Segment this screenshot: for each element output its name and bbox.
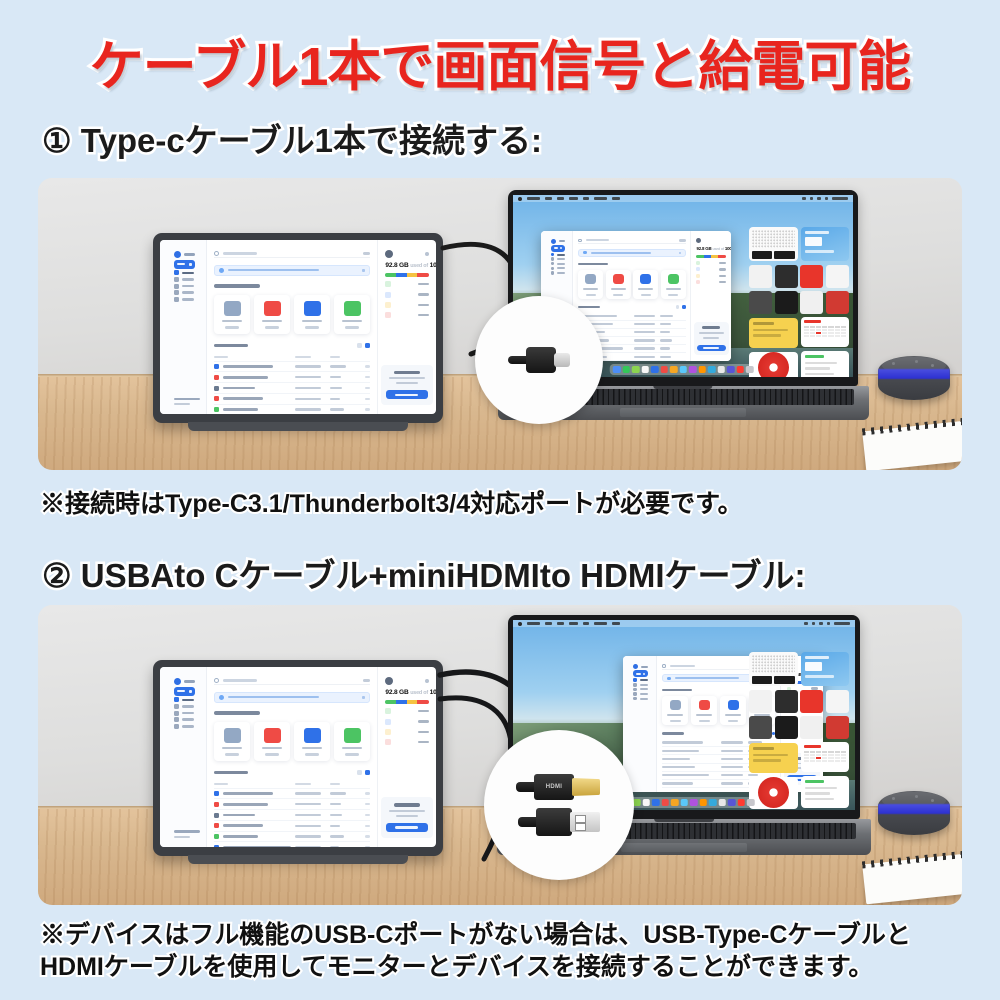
monitor-screen-2: 92.8 GB used of 100 GB [160, 667, 436, 847]
app-icon-settings[interactable] [749, 716, 772, 739]
info-icon [219, 268, 224, 273]
notes-widget[interactable] [749, 743, 798, 773]
battery-icon [825, 197, 828, 200]
macos-widget-stack-2 [749, 652, 849, 809]
more-icon[interactable] [679, 239, 686, 241]
macos-menubar [513, 620, 855, 627]
app-icon-settings[interactable] [749, 291, 772, 314]
recents-header [214, 343, 370, 348]
brand-logo-icon [633, 664, 638, 669]
share-icon [174, 284, 179, 289]
quick-access-card[interactable] [334, 295, 370, 334]
clock-icon [174, 717, 179, 722]
storage-usage-text: 92.8 GB used of 100 GB [696, 246, 726, 251]
dock-icon-podcasts[interactable] [690, 799, 698, 807]
pdf-tile-icon [264, 728, 281, 743]
app-icon-clock[interactable] [775, 716, 798, 739]
clock-icon [174, 290, 179, 295]
storage-usage-text: 92.8 GB used of 100 GB [385, 262, 429, 269]
step-2-photo: 92.8 GB used of 100 GB [38, 605, 962, 905]
quick-access-card[interactable] [606, 270, 631, 299]
dock-icon-finder[interactable] [613, 366, 621, 374]
recents-title [214, 344, 248, 347]
smart-speaker-2 [878, 791, 950, 835]
file-tile-icon [344, 728, 361, 743]
app-icon-gmail[interactable] [800, 716, 823, 739]
world-clock-widget[interactable] [749, 652, 798, 686]
sidebar-item-trash[interactable] [174, 297, 195, 302]
sidebar-item-recent[interactable] [174, 290, 195, 295]
sidebar-item-my-files[interactable] [633, 683, 648, 687]
app-right-panel: 92.8 GB used of 100 GB [377, 667, 436, 847]
menubar-clock [832, 197, 848, 199]
file-manager-app-2: 92.8 GB used of 100 GB [160, 667, 436, 847]
dock-icon-mail[interactable] [651, 366, 659, 374]
music-widget[interactable] [749, 352, 798, 377]
recents-table [214, 780, 370, 847]
add-new-file-button[interactable] [174, 687, 195, 696]
search-input[interactable] [578, 237, 685, 244]
brand-logo-icon [174, 251, 181, 258]
quick-access-title [214, 711, 260, 715]
recents-title [214, 771, 248, 774]
table-row[interactable] [214, 831, 370, 842]
usb-c-magnifier [475, 296, 603, 424]
table-row[interactable] [214, 799, 370, 810]
brand-logo-icon [174, 678, 181, 685]
info-banner [214, 692, 370, 703]
sidebar-item-home[interactable] [174, 697, 195, 702]
storage-bar [385, 700, 429, 704]
search-input[interactable] [214, 676, 370, 685]
more-icon[interactable] [363, 252, 370, 254]
grid-view-icon[interactable] [365, 770, 370, 775]
user-profile[interactable] [385, 677, 429, 685]
storage-category [385, 728, 429, 735]
storage-bar [696, 255, 726, 258]
quick-access-cards [578, 270, 685, 299]
sidebar-nav [174, 270, 195, 301]
step-1-title: ① Type-cケーブル1本で接続する: [42, 114, 542, 162]
table-header-row [214, 353, 370, 361]
portable-monitor-2: 92.8 GB used of 100 GB [153, 660, 443, 856]
quick-access-card[interactable] [661, 270, 686, 299]
app-icon-books[interactable] [826, 291, 849, 314]
table-row[interactable] [214, 383, 370, 394]
storage-category [696, 280, 726, 284]
storage-category [385, 301, 429, 308]
laptop-trackpad[interactable] [620, 408, 746, 417]
close-icon[interactable] [362, 269, 365, 272]
quick-access-card[interactable] [720, 696, 746, 725]
sidebar-item-shared-files[interactable] [551, 262, 565, 266]
info-icon [219, 695, 224, 700]
app-icon-podcasts[interactable] [775, 265, 798, 288]
app-icon-calculator[interactable] [749, 690, 772, 713]
info-icon [667, 677, 671, 681]
hdmi-usb-magnifier: HDMI [484, 730, 634, 880]
table-row[interactable] [214, 820, 370, 831]
folder-tile-icon [585, 274, 596, 284]
app-icon-google[interactable] [826, 265, 849, 288]
storage-category [385, 718, 429, 725]
home-icon [633, 678, 637, 682]
app-main [207, 240, 377, 414]
quick-access-title [214, 284, 260, 288]
app-icon-clock[interactable] [775, 291, 798, 314]
file-tile-icon [668, 274, 679, 284]
app-right-panel: 92.8 GB used of 100 GB [377, 240, 436, 414]
app-brand [174, 251, 195, 258]
info-icon [583, 251, 587, 255]
sidebar-item-my-files[interactable] [551, 257, 565, 261]
dock-icon-maps[interactable] [661, 799, 669, 807]
search-icon [214, 678, 219, 683]
dock-icon-photos[interactable] [670, 366, 678, 374]
search-icon[interactable] [802, 197, 805, 200]
doc-tile-icon [304, 728, 321, 743]
hdmi-connector-icon: HDMI [516, 774, 602, 800]
info-banner [578, 249, 685, 257]
stocks-widget[interactable] [801, 351, 850, 377]
dock-icon-maps[interactable] [660, 366, 668, 374]
list-view-icon[interactable] [357, 770, 362, 775]
pdf-tile-icon [613, 274, 624, 284]
app-right-panel: 92.8 GB used of 100 GB [690, 231, 731, 361]
macos-dock-1 [610, 364, 757, 376]
avatar [385, 250, 393, 258]
wifi-icon[interactable] [810, 197, 813, 200]
table-row[interactable] [214, 810, 370, 821]
gear-icon[interactable] [425, 679, 430, 684]
sidebar-item-recent[interactable] [174, 717, 195, 722]
chevron-down-icon [643, 673, 645, 675]
control-center-icon[interactable] [817, 197, 820, 200]
brand-name [184, 253, 195, 256]
menubar-status-icons [804, 622, 850, 625]
monitor-stand [188, 855, 408, 864]
search-icon [578, 239, 582, 243]
grid-view-icon[interactable] [365, 343, 370, 348]
quick-access-card[interactable] [691, 696, 717, 725]
sidebar-item-my-files[interactable] [174, 704, 195, 709]
sidebar-nav [174, 697, 195, 728]
doc-tile-icon [640, 274, 651, 284]
sidebar-nav [551, 253, 565, 275]
dock-icon-photos[interactable] [671, 799, 679, 807]
upgrade-plan-button[interactable] [697, 345, 726, 351]
macos-widget-stack-1 [749, 227, 849, 377]
chevron-down-icon [189, 690, 192, 693]
sidebar-item-trash[interactable] [551, 271, 565, 275]
folder-icon [551, 257, 555, 261]
laptop-notch [654, 819, 714, 822]
app-brand [551, 239, 565, 244]
dock-icon-safari[interactable] [641, 366, 649, 374]
world-clock-widget[interactable] [749, 227, 798, 261]
table-row[interactable] [214, 788, 370, 799]
page-headline: ケーブル1本で画面信号と給電可能 [0, 22, 1000, 101]
app-icon-calculator[interactable] [749, 265, 772, 288]
quick-access-card[interactable] [214, 722, 250, 761]
usb-c-connector-icon [508, 347, 570, 373]
speaker-light-ring [878, 369, 950, 379]
share-icon [174, 711, 179, 716]
sidebar-footer [174, 830, 200, 838]
smart-speaker-1 [878, 356, 950, 400]
app-sidebar [160, 667, 207, 847]
quick-access-card[interactable] [294, 295, 330, 334]
sidebar-item-shared-files[interactable] [633, 688, 648, 692]
app-icon-youtube[interactable] [800, 690, 823, 713]
stocks-widget[interactable] [801, 776, 850, 808]
promo-heading [394, 371, 420, 374]
sidebar-item-shared-files[interactable] [174, 711, 195, 716]
apple-icon[interactable] [518, 197, 522, 201]
trash-icon [174, 297, 179, 302]
doc-tile-icon [304, 301, 321, 316]
user-profile[interactable] [696, 238, 726, 244]
close-icon[interactable] [679, 252, 681, 254]
spiral-notepad-1 [862, 421, 962, 470]
upgrade-promo [381, 365, 432, 406]
user-profile[interactable] [385, 250, 429, 258]
recents-header [214, 770, 370, 775]
add-new-file-button[interactable] [633, 670, 648, 677]
hdmi-gold-contacts [572, 778, 600, 796]
quick-access-title [578, 263, 608, 266]
close-icon[interactable] [362, 696, 365, 699]
sidebar-item-recent[interactable] [551, 267, 565, 271]
upgrade-promo [381, 797, 432, 838]
dock-icon-safari[interactable] [642, 799, 650, 807]
dock-icon-trash[interactable] [747, 799, 755, 807]
quick-access-card[interactable] [334, 722, 370, 761]
monitor-screen-1: 92.8 GB used of 100 GB [160, 240, 436, 414]
sidebar-item-trash[interactable] [633, 697, 648, 701]
search-icon [214, 251, 219, 256]
list-view-icon[interactable] [676, 305, 680, 309]
search-icon[interactable] [804, 622, 807, 625]
share-icon [551, 262, 555, 266]
app-sidebar [623, 656, 657, 792]
app-sidebar [160, 240, 207, 414]
folder-tile-icon [224, 728, 241, 743]
folder-icon [174, 704, 179, 709]
folder-icon [633, 683, 637, 687]
storage-category [696, 261, 726, 265]
dock-icon-reminders[interactable] [699, 799, 707, 807]
avatar [696, 238, 701, 243]
recents-header [578, 305, 685, 309]
sidebar-footer [174, 398, 200, 406]
sidebar-item-home[interactable] [551, 253, 565, 257]
recents-table [214, 353, 370, 414]
storage-category [385, 312, 429, 319]
wifi-icon[interactable] [812, 622, 815, 625]
dock-icon-music[interactable] [736, 366, 744, 374]
pdf-tile-icon [699, 700, 710, 710]
recents-title [662, 732, 684, 735]
app-icon-youtube[interactable] [800, 265, 823, 288]
folder-tile-icon [224, 301, 241, 316]
storage-category [385, 291, 429, 298]
control-center-icon[interactable] [819, 622, 822, 625]
storage-category [696, 267, 726, 271]
storage-category [696, 274, 726, 278]
dock-icon-trash[interactable] [746, 366, 754, 374]
dock-icon-appstore[interactable] [717, 366, 725, 374]
app-icon-google[interactable] [826, 690, 849, 713]
dock-icon-messages[interactable] [632, 366, 640, 374]
file-manager-app-1: 92.8 GB used of 100 GB [160, 240, 436, 414]
step-1-photo: 92.8 GB used of 100 GB [38, 178, 962, 470]
quick-access-card[interactable] [214, 295, 250, 334]
app-icon-books[interactable] [826, 716, 849, 739]
quick-access-title [662, 689, 692, 692]
hdmi-label: HDMI [546, 784, 563, 790]
trash-icon [551, 271, 555, 275]
quick-access-card[interactable] [633, 270, 658, 299]
brand-logo-icon [551, 239, 556, 244]
weather-widget[interactable] [801, 652, 850, 686]
table-row[interactable] [214, 393, 370, 404]
quick-access-cards [214, 295, 370, 334]
quick-access-card[interactable] [254, 722, 290, 761]
step-1-note: ※接続時はType-C3.1/Thunderbolt3/4対応ポートが必要です。 [40, 489, 980, 521]
app-icon-podcasts[interactable] [775, 690, 798, 713]
vinyl-disc-icon [758, 777, 789, 808]
sidebar-item-my-files[interactable] [174, 277, 195, 282]
app-grid-widget [749, 265, 849, 314]
menubar-status-icons [802, 197, 848, 200]
search-input[interactable] [214, 249, 370, 258]
promo-heading [394, 803, 420, 806]
home-icon [551, 253, 555, 257]
sidebar-item-home[interactable] [633, 678, 648, 682]
step-2-title: ② USBAto Cケーブル+miniHDMIto HDMIケーブル: [42, 549, 806, 597]
upgrade-promo [694, 322, 729, 354]
sidebar-item-trash[interactable] [174, 724, 195, 729]
storage-category [385, 739, 429, 746]
notes-widget[interactable] [749, 318, 798, 348]
trash-icon [174, 724, 179, 729]
table-row[interactable] [214, 372, 370, 383]
avatar [385, 677, 393, 685]
chevron-down-icon [560, 247, 562, 249]
add-new-file-button[interactable] [551, 245, 565, 252]
dock-icon-mail[interactable] [652, 799, 660, 807]
table-row[interactable] [214, 361, 370, 372]
step-2-note: ※デバイスはフル機能のUSB-Cポートがない場合は、USB-Type-Cケーブル… [40, 920, 980, 983]
folder-tile-icon [670, 700, 681, 710]
sidebar-item-recent[interactable] [633, 692, 648, 696]
clock-icon [633, 692, 637, 696]
storage-category [385, 708, 429, 715]
dock-icon-settings[interactable] [727, 366, 735, 374]
upgrade-plan-button[interactable] [386, 823, 427, 832]
list-view-icon[interactable] [357, 343, 362, 348]
storage-bar [385, 273, 429, 277]
apple-icon[interactable] [518, 622, 522, 626]
add-new-file-button[interactable] [174, 260, 195, 269]
table-row[interactable] [578, 312, 685, 320]
dock-icon-podcasts[interactable] [689, 366, 697, 374]
app-main [207, 667, 377, 847]
grid-view-icon[interactable] [682, 305, 686, 309]
table-header-row [214, 780, 370, 788]
sidebar-item-shared-files[interactable] [174, 284, 195, 289]
storage-usage-text: 92.8 GB used of 100 GB [385, 689, 429, 696]
quick-access-card[interactable] [294, 722, 330, 761]
upgrade-plan-button[interactable] [386, 390, 427, 399]
home-icon [174, 270, 179, 275]
gear-icon[interactable] [425, 252, 430, 257]
app-brand [174, 678, 195, 685]
file-tile-icon [344, 301, 361, 316]
app-brand [633, 664, 648, 669]
vinyl-disc-icon [758, 352, 789, 377]
clock-icon [551, 267, 555, 271]
chevron-down-icon [189, 263, 192, 266]
recents-title [578, 306, 600, 309]
pdf-tile-icon [264, 301, 281, 316]
macos-menubar [513, 195, 853, 202]
table-row[interactable] [214, 842, 370, 847]
quick-access-card[interactable] [662, 696, 688, 725]
calendar-widget[interactable] [801, 317, 850, 347]
storage-category [385, 281, 429, 288]
weather-widget[interactable] [801, 227, 850, 261]
dock-icon-music[interactable] [737, 799, 745, 807]
sidebar-item-home[interactable] [174, 270, 195, 275]
dock-icon-notes[interactable] [708, 366, 716, 374]
battery-icon [827, 622, 830, 625]
share-icon [633, 688, 637, 692]
app-grid-widget [749, 690, 849, 739]
table-row[interactable] [214, 404, 370, 414]
more-icon[interactable] [363, 679, 370, 681]
laptop-trackpad[interactable] [621, 843, 748, 852]
quick-access-cards [214, 722, 370, 761]
app-icon-gmail[interactable] [800, 291, 823, 314]
dock-icon-appstore[interactable] [718, 799, 726, 807]
menubar-clock [834, 622, 850, 624]
dock-icon-settings[interactable] [728, 799, 736, 807]
dock-icon-reminders[interactable] [698, 366, 706, 374]
info-banner [214, 265, 370, 276]
dock-icon-contacts[interactable] [679, 366, 687, 374]
trash-icon [633, 697, 637, 701]
search-icon [662, 664, 666, 668]
quick-access-card[interactable] [254, 295, 290, 334]
doc-tile-icon [728, 700, 739, 710]
quick-access-card[interactable] [578, 270, 603, 299]
dock-icon-contacts[interactable] [680, 799, 688, 807]
calendar-widget[interactable] [801, 742, 850, 772]
home-icon [174, 697, 179, 702]
folder-icon [174, 277, 179, 282]
monitor-stand [188, 422, 408, 431]
sidebar-nav [633, 678, 648, 700]
dock-icon-notes[interactable] [709, 799, 717, 807]
dock-icon-facetime[interactable] [622, 366, 630, 374]
usb-a-connector-icon [518, 808, 600, 836]
portable-monitor-1: 92.8 GB used of 100 GB [153, 233, 443, 423]
speaker-light-ring [878, 804, 950, 814]
